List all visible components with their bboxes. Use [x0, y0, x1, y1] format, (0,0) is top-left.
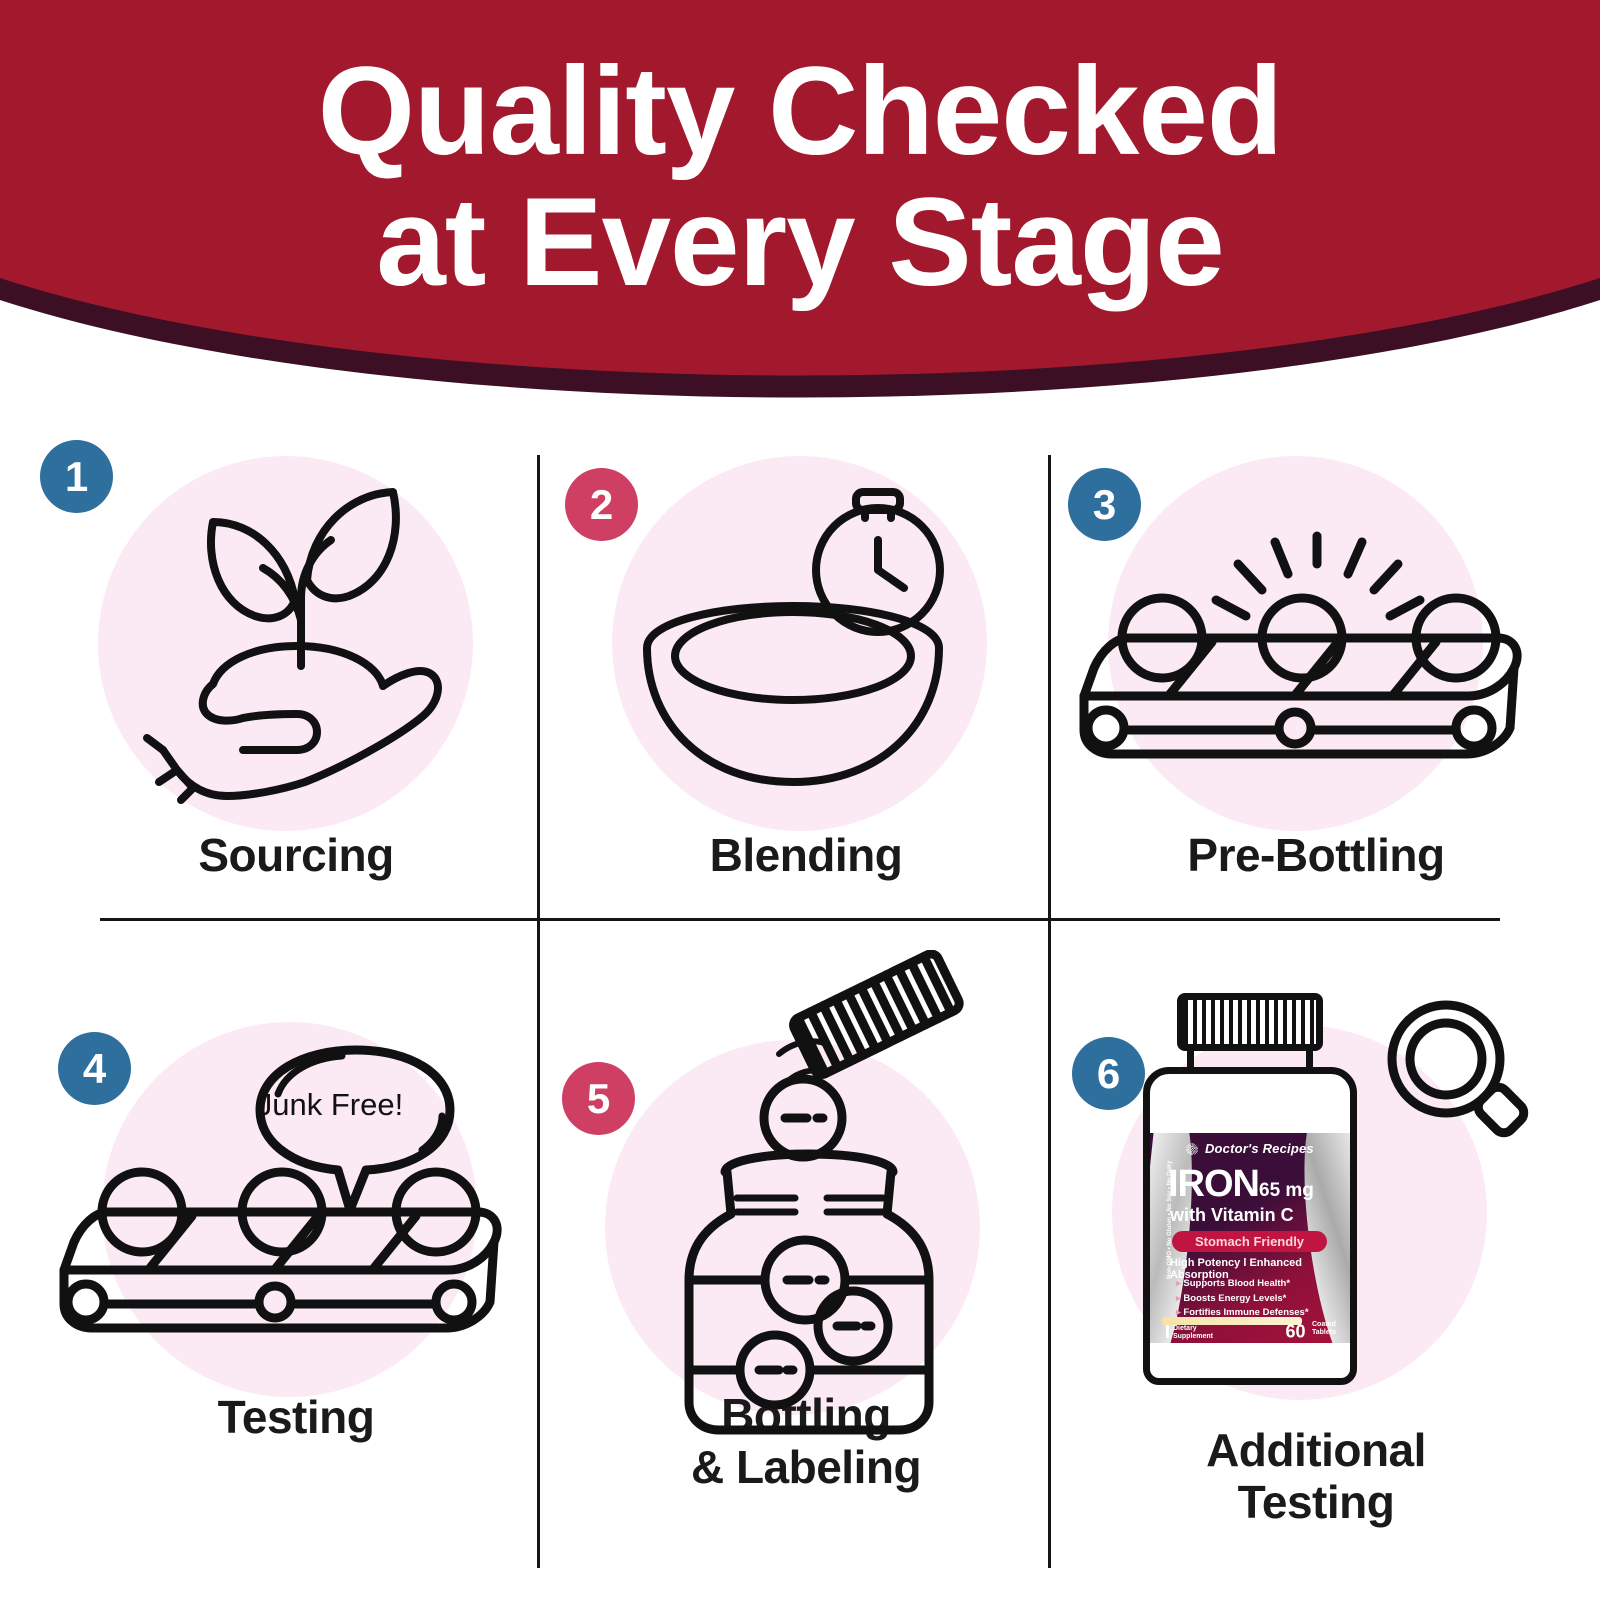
caption-text-line2: Testing	[1238, 1476, 1395, 1528]
label-product-name: IRON	[1168, 1163, 1259, 1205]
label-brand: Doctor's Recipes	[1150, 1141, 1350, 1156]
step-card-blending[interactable]: 2 Blending	[550, 440, 1062, 1010]
step-badge-5: 5	[562, 1062, 635, 1135]
step-card-testing[interactable]: 4	[40, 1002, 552, 1572]
supplement-bottle: Doctor's Recipes IRON65 mg with Vitamin …	[1135, 993, 1365, 1388]
step-card-bottling-labeling[interactable]: 5	[550, 940, 1062, 1510]
step-number: 2	[590, 481, 613, 529]
step-number: 5	[587, 1075, 610, 1123]
caption-text-line1: Additional	[1206, 1424, 1426, 1476]
step-badge-1: 1	[40, 440, 113, 513]
page-title-line1: Quality Checked	[318, 42, 1283, 181]
conveyor-belt-sparkle-icon	[1070, 518, 1540, 788]
step-badge-6: 6	[1072, 1037, 1145, 1110]
step-caption-testing: Testing	[40, 1392, 552, 1444]
caption-text: Pre-Bottling	[1187, 829, 1444, 881]
mixing-bowl-stopwatch-icon	[625, 470, 975, 810]
page-title-line2: at Every Stage	[0, 177, 1600, 308]
step-number: 4	[83, 1045, 106, 1093]
steps-grid: 1	[0, 430, 1600, 1600]
label-benefits: ▸ Supports Blood Health* ▸ Boosts Energy…	[1176, 1277, 1309, 1321]
step-badge-3: 3	[1068, 468, 1141, 541]
bottle-cap	[1177, 993, 1323, 1051]
step-badge-4: 4	[58, 1032, 131, 1105]
step-caption-pre-bottling: Pre-Bottling	[1060, 830, 1572, 882]
label-product-row: IRON65 mg	[1168, 1163, 1314, 1206]
header-banner: Quality Checked at Every Stage	[0, 0, 1600, 430]
label-gold-band	[1162, 1317, 1302, 1325]
step-caption-additional-testing: Additional Testing	[1060, 1425, 1572, 1528]
label-banner: Stomach Friendly	[1172, 1231, 1327, 1252]
caption-text: Blending	[710, 829, 903, 881]
step-badge-2: 2	[565, 468, 638, 541]
step-card-additional-testing[interactable]: 6	[1060, 975, 1572, 1545]
step-number: 1	[65, 453, 88, 501]
label-count: 60 Coated Tablets	[1286, 1321, 1336, 1342]
label-side-text: Non-GMO • No Gluten • No Soy • No Dairy	[1167, 1183, 1173, 1279]
page-title: Quality Checked at Every Stage	[0, 46, 1600, 309]
step-card-pre-bottling[interactable]: 3	[1060, 440, 1572, 1010]
bottle-label: Doctor's Recipes IRON65 mg with Vitamin …	[1150, 1133, 1350, 1343]
step-number: 3	[1093, 481, 1116, 529]
caption-text: Sourcing	[198, 829, 393, 881]
label-subtitle: with Vitamin C	[1170, 1205, 1294, 1226]
step-caption-blending: Blending	[550, 830, 1062, 882]
step-card-sourcing[interactable]: 1	[40, 440, 552, 1010]
caption-text: Testing	[218, 1391, 375, 1443]
hand-holding-sprout-icon	[135, 470, 465, 810]
step-number: 6	[1097, 1050, 1120, 1098]
additional-testing-art: 6	[1060, 975, 1572, 1475]
magnifier-icon	[1380, 995, 1540, 1155]
brand-sunburst-icon	[1186, 1143, 1198, 1155]
speech-bubble-text: Junk Free!	[255, 1087, 405, 1123]
label-dose: 65 mg	[1259, 1180, 1314, 1201]
step-caption-sourcing: Sourcing	[40, 830, 552, 882]
label-supplement-mark: Dietary Supplement	[1166, 1325, 1213, 1342]
jar-filling-icon	[645, 950, 975, 1450]
